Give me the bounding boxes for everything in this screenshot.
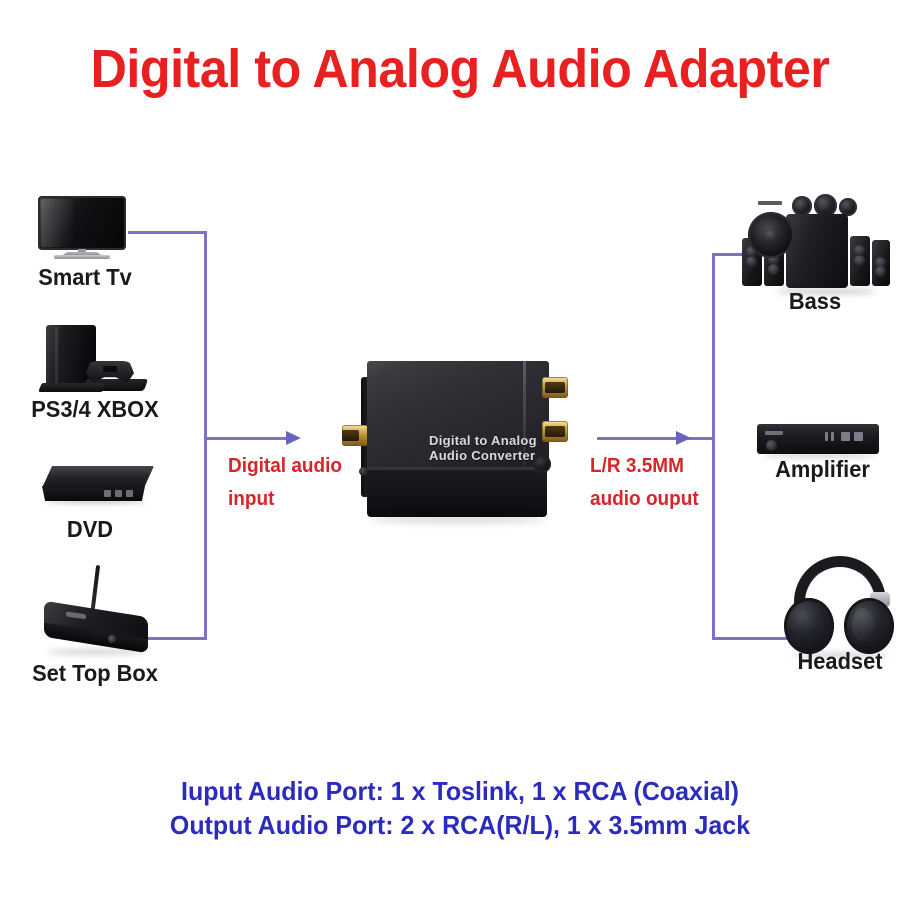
headset-icon: [780, 556, 900, 660]
wire-input-branch: [204, 437, 289, 440]
wire-headset: [712, 637, 790, 640]
game-console-icon: [40, 325, 150, 395]
dvd-label: DVD: [5, 516, 176, 543]
converter-label-line1: Digital to Analog: [429, 433, 553, 448]
output-callout-line2: audio ouput: [590, 483, 699, 516]
rca-output-right-jack[interactable]: [542, 377, 568, 398]
diagram-canvas: Digital to Analog Audio Adapter Smart Tv…: [0, 0, 920, 920]
headset-label: Headset: [764, 648, 916, 675]
converter-branding-label: Digital to Analog Audio Converter: [429, 433, 553, 463]
dvd-player-icon: [42, 466, 157, 508]
input-callout-line2: input: [228, 483, 342, 516]
spec-output-line: Output Audio Port: 2 x RCA(R/L), 1 x 3.5…: [18, 810, 901, 841]
converter-front-face: [367, 467, 547, 517]
wire-left-bus: [204, 231, 207, 640]
set-top-box-label: Set Top Box: [5, 660, 186, 687]
output-arrow-icon: [676, 431, 691, 445]
input-arrow-icon: [286, 431, 301, 445]
coaxial-rca-input-jack[interactable]: [342, 425, 368, 446]
bass-label: Bass: [744, 288, 887, 315]
wire-output-branch: [597, 437, 715, 440]
input-callout-line1: Digital audio: [228, 450, 342, 483]
spec-input-line: Iuput Audio Port: 1 x Toslink, 1 x RCA (…: [18, 776, 901, 807]
amplifier-icon: [757, 424, 882, 460]
set-top-box-icon: [36, 565, 161, 660]
smart-tv-icon: [38, 196, 128, 262]
page-title: Digital to Analog Audio Adapter: [32, 38, 888, 100]
wire-smart-tv: [128, 231, 207, 234]
converter-label-line2: Audio Converter: [429, 448, 553, 463]
amplifier-label: Amplifier: [744, 456, 901, 483]
output-callout-line1: L/R 3.5MM: [590, 450, 699, 483]
console-label: PS3/4 XBOX: [5, 396, 186, 423]
input-callout: Digital audio input: [228, 450, 342, 516]
bass-speaker-system-icon: [740, 196, 890, 296]
wire-right-bus: [712, 253, 715, 638]
smart-tv-label: Smart Tv: [4, 264, 166, 291]
output-callout: L/R 3.5MM audio ouput: [590, 450, 699, 516]
converter-shadow: [371, 515, 547, 523]
dac-converter-device: Digital to Analog Audio Converter: [355, 355, 555, 525]
